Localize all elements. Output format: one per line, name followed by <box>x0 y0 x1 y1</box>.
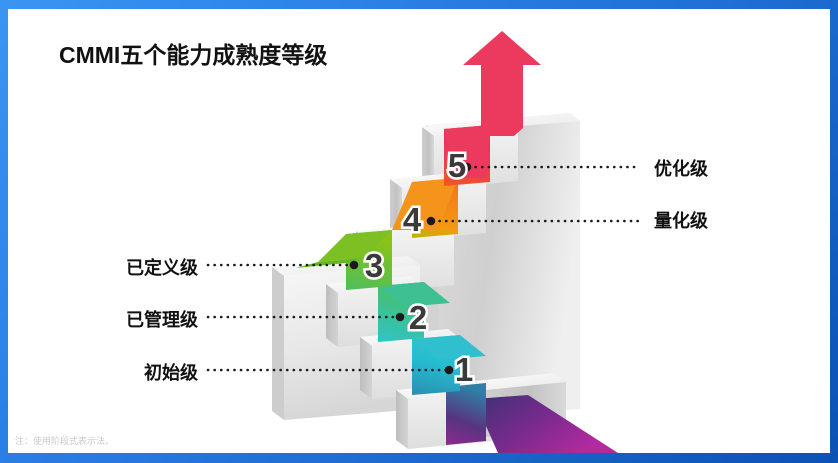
dot-step-4 <box>427 217 436 226</box>
footnote: 注：使用阶段式表示法。 <box>15 434 114 447</box>
dot-step-2 <box>396 313 405 322</box>
label-level-2-managed: 已管理级 <box>94 306 198 332</box>
slide-canvas: CMMI五个能力成熟度等级 <box>0 0 838 463</box>
step-number-4: 4 <box>403 201 422 238</box>
step-number-2: 2 <box>409 299 427 336</box>
label-level-3-defined: 已定义级 <box>94 254 198 280</box>
label-level-5-optimizing: 优化级 <box>654 155 708 181</box>
label-level-1-initial: 初始级 <box>94 359 198 385</box>
step-number-3: 3 <box>365 247 383 284</box>
dot-step-3 <box>350 261 359 270</box>
slide-content: CMMI五个能力成熟度等级 <box>8 9 830 453</box>
label-level-4-quantitative: 量化级 <box>654 207 708 233</box>
step-number-1: 1 <box>455 351 473 388</box>
step-number-5: 5 <box>448 147 466 184</box>
ribbon-seg-0 <box>446 383 486 445</box>
dot-step-1 <box>445 366 454 375</box>
